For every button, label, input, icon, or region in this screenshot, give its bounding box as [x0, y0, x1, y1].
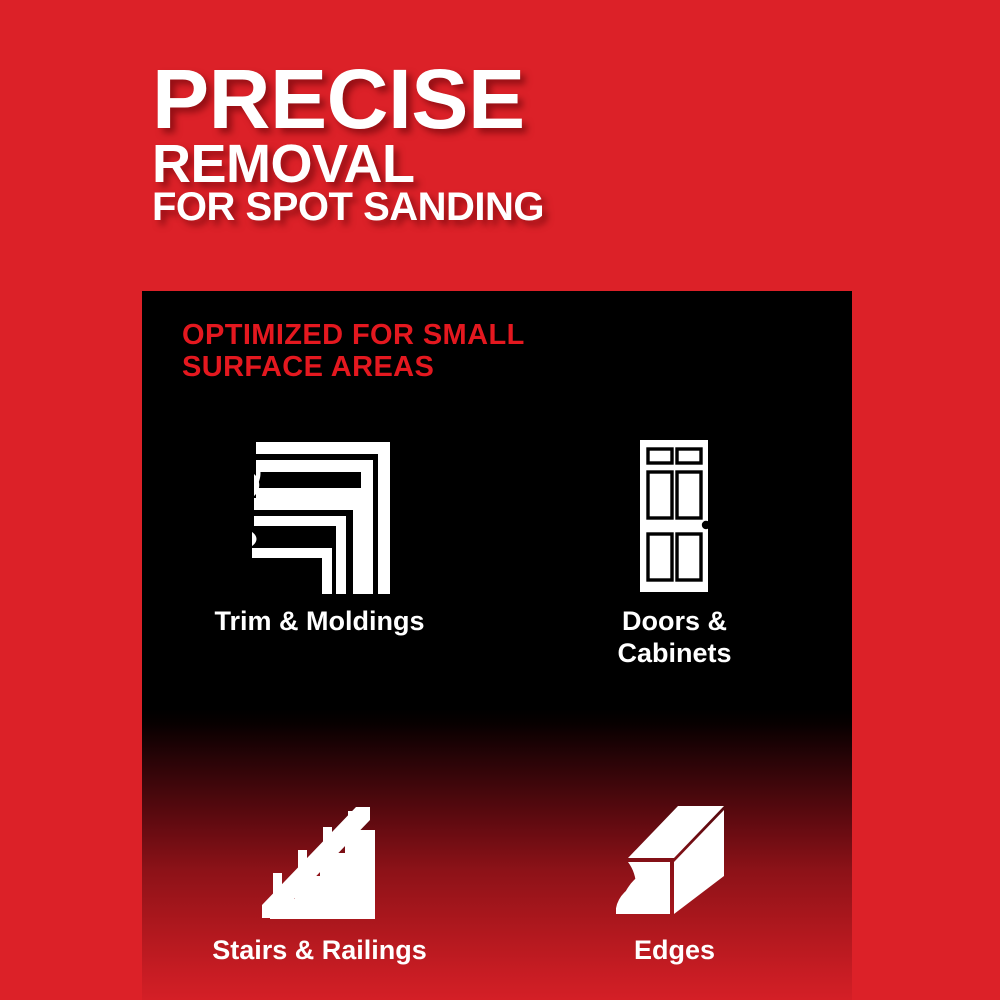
grid-item-label: Doors & Cabinets [617, 606, 731, 670]
grid-item-edges: Edges [497, 795, 852, 967]
grid-item-trim-moldings: Trim & Moldings [142, 436, 497, 670]
grid-item-label: Stairs & Railings [212, 935, 427, 967]
board-edge-icon [616, 795, 734, 925]
feature-panel: OPTIMIZED FOR SMALL SURFACE AREAS [142, 291, 852, 1000]
grid-item-label: Edges [634, 935, 715, 967]
panel-door-icon [630, 436, 720, 596]
headline-secondary: REMOVAL [152, 140, 892, 189]
panel-heading: OPTIMIZED FOR SMALL SURFACE AREAS [182, 319, 525, 384]
headline-tertiary: FOR SPOT SANDING [152, 189, 892, 225]
icon-grid-row: Stairs & Railings [142, 795, 852, 967]
icon-grid-row: Trim & Moldings [142, 436, 852, 670]
grid-item-label: Trim & Moldings [214, 606, 424, 638]
headline-block: PRECISE REMOVAL FOR SPOT SANDING [152, 62, 892, 225]
staircase-railing-icon [260, 795, 380, 925]
grid-item-stairs-railings: Stairs & Railings [142, 795, 497, 967]
molding-corner-icon [240, 436, 400, 596]
headline-primary: PRECISE [152, 62, 907, 138]
application-icon-grid: Trim & Moldings [142, 436, 852, 967]
product-feature-poster: PRECISE REMOVAL FOR SPOT SANDING OPTIMIZ… [0, 0, 1000, 1000]
grid-item-doors-cabinets: Doors & Cabinets [497, 436, 852, 670]
